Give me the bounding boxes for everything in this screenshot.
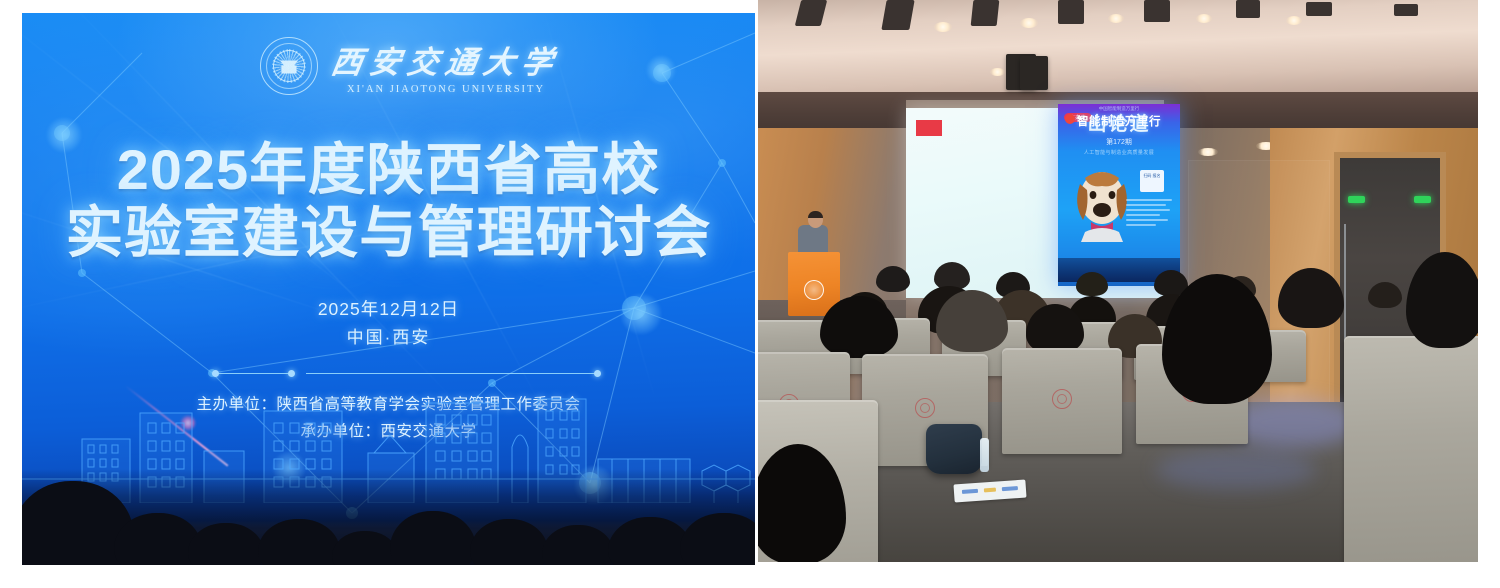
auditorium-seat[interactable] (1002, 348, 1122, 454)
screen-red-marker (916, 120, 942, 136)
ceiling-speaker-icon (881, 0, 914, 30)
poster-qr-card: 扫码 报名 (1140, 170, 1164, 192)
title-line-2: 实验室建设与管理研讨会 (22, 204, 755, 261)
ceiling-speaker-icon (971, 0, 1000, 26)
foreground-seat[interactable] (1344, 336, 1478, 562)
university-circular-emblem (804, 280, 824, 300)
water-bottle[interactable] (980, 438, 989, 472)
university-name-en: XI'AN JIAOTONG UNIVERSITY (332, 84, 560, 95)
conference-title: 2025年度陕西省高校 实验室建设与管理研讨会 (22, 141, 755, 261)
beagle-dog-photo (1071, 164, 1133, 242)
poster-issue: 第172期 (1058, 137, 1180, 147)
poster-footer-small: 中国智能制造万里行 (1058, 106, 1180, 112)
audience-member (1076, 272, 1108, 296)
poster-display: 山论道 主办方 第172期 人工智能与制造业高质量发展 扫码 报名 中国智能制造… (1058, 104, 1180, 286)
presenter-hair (808, 211, 823, 218)
right-panel-auditorium: 山论道 主办方 第172期 人工智能与制造业高质量发展 扫码 报名 中国智能制造… (758, 0, 1478, 562)
poster-text-block (1126, 199, 1174, 229)
title-line-1: 2025年度陕西省高校 (22, 141, 755, 198)
university-logo-lockup: 西安交通大学 XI'AN JIAOTONG UNIVERSITY (260, 37, 560, 95)
divider-rule (212, 370, 602, 378)
university-name-cn: 西安交通大学 (328, 37, 563, 82)
poster-card-label: 扫码 报名 (1140, 173, 1164, 179)
exit-sign-icon (1348, 196, 1365, 203)
downlight-icon (934, 22, 952, 32)
ceiling-speaker-icon (1058, 0, 1084, 24)
ceiling-speaker-icon (1144, 0, 1170, 22)
downlight-icon (1198, 148, 1218, 156)
ceiling-speaker-icon (1394, 4, 1418, 16)
poster-subtitle: 人工智能与制造业高质量发展 (1058, 149, 1180, 156)
conference-date: 2025年12月12日 (22, 296, 755, 321)
glow-blob (646, 55, 676, 85)
ceiling-speaker-icon (1306, 2, 1332, 16)
audience-member (1368, 282, 1402, 308)
downlight-icon (1286, 16, 1302, 25)
photo-composite: 西安交通大学 XI'AN JIAOTONG UNIVERSITY 2025年度陕… (0, 0, 1500, 588)
left-panel-conference-backdrop: 西安交通大学 XI'AN JIAOTONG UNIVERSITY 2025年度陕… (22, 13, 755, 565)
exit-sign-icon (1414, 196, 1431, 203)
backpack-on-floor[interactable] (926, 424, 982, 474)
audience-member (876, 266, 910, 292)
floor-light-reflection (1156, 450, 1316, 490)
downlight-icon (1108, 14, 1124, 23)
conference-city: 中国·西安 (22, 323, 755, 348)
seat-crest-icon (1052, 389, 1072, 409)
xjtu-seal-icon (260, 37, 318, 95)
audience-silhouette-layer (22, 469, 755, 565)
downlight-icon (1196, 14, 1212, 23)
seat-crest-icon (915, 398, 935, 418)
wall-speaker-icon (1020, 56, 1048, 90)
ceiling-speaker-icon (1236, 0, 1260, 18)
downlight-icon (990, 68, 1005, 76)
poster-footer-main: 智能制造万里行 (1058, 113, 1180, 129)
downlight-icon (1020, 18, 1038, 28)
